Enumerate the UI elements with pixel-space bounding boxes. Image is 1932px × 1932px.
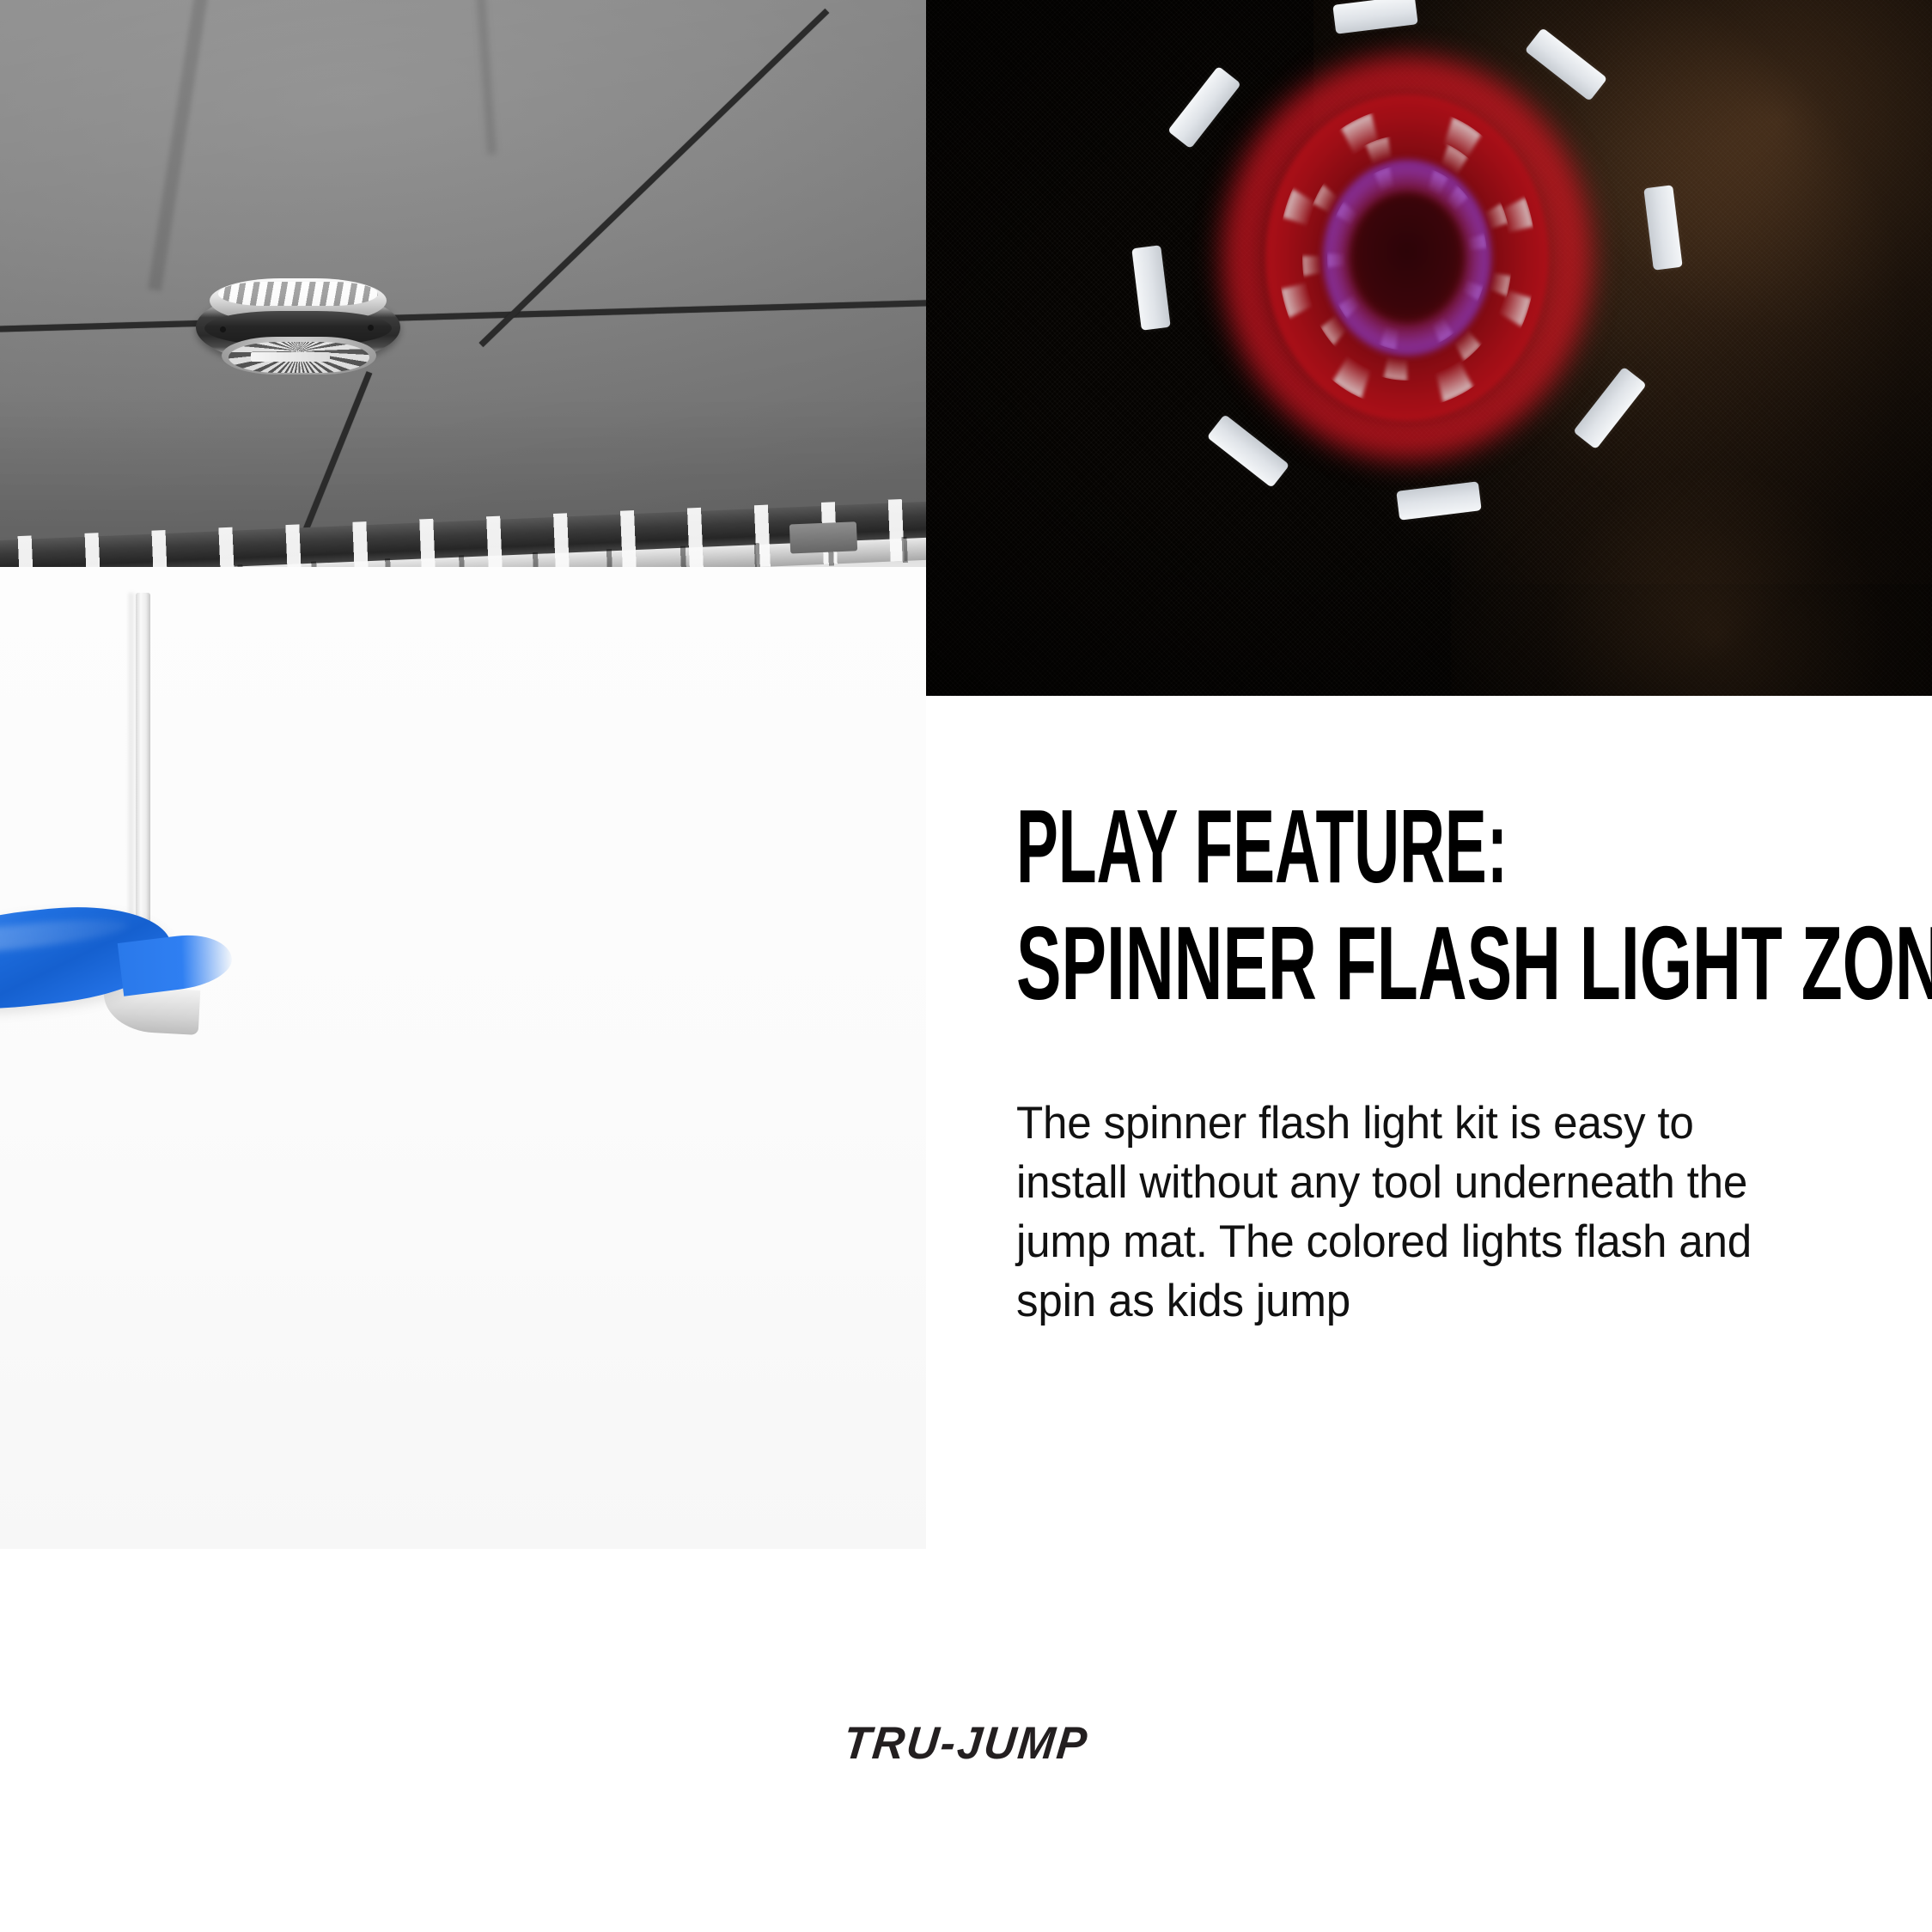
trampoline-underside-photo	[0, 0, 926, 1549]
fixture-screw	[220, 326, 226, 332]
spinning-light-glow	[1184, 34, 1630, 481]
brand-logo: TRU-JUMP	[841, 1720, 1162, 1768]
fixture-screw	[368, 325, 374, 331]
spinner-light-in-action-photo	[926, 0, 1932, 696]
fixture-label-plate	[251, 352, 330, 362]
headline-line-1: PLAY FEATURE:	[1016, 794, 1532, 899]
rail-end-cap	[789, 521, 857, 553]
headline-line-2: SPINNER FLASH LIGHT ZONE	[1016, 911, 1570, 1015]
light-core	[1350, 193, 1464, 322]
fixture-lens-strip	[218, 282, 378, 306]
spinner-light-fixture	[196, 273, 400, 381]
feature-text-block: PLAY FEATURE: SPINNER FLASH LIGHT ZONE T…	[1016, 794, 1875, 1332]
feature-description: The spinner flash light kit is easy to i…	[1016, 1094, 1812, 1332]
marketing-feature-card: PLAY FEATURE: SPINNER FLASH LIGHT ZONE T…	[0, 0, 1932, 1932]
page-title: PLAY FEATURE: SPINNER FLASH LIGHT ZONE	[1016, 794, 1875, 1015]
